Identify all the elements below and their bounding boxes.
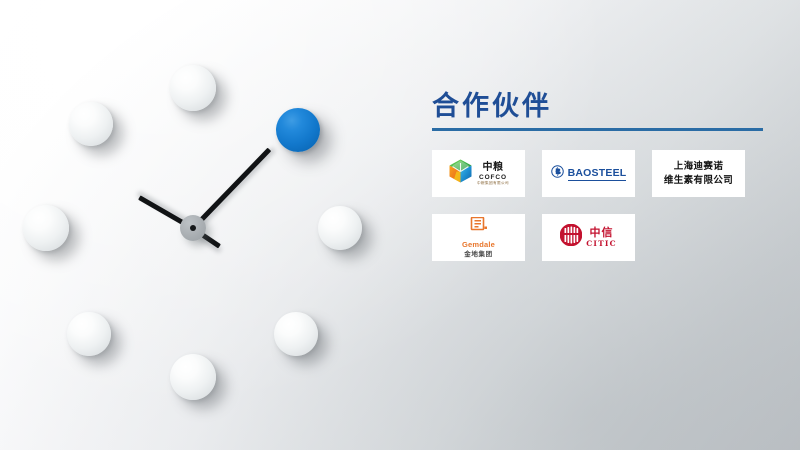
clock-minute-hand [191, 147, 271, 230]
wall-clock-graphic [0, 0, 400, 450]
clock-marker-3 [318, 206, 362, 250]
citic-name-en: CITIC [586, 240, 617, 249]
partner-card-baosteel[interactable]: BAOSTEEL [542, 150, 635, 197]
cofco-name-en: COFCO [479, 174, 507, 182]
disanuo-name-line1: 上海迪赛诺 [664, 160, 733, 174]
partner-card-citic[interactable]: 中信 CITIC [542, 214, 635, 261]
page-title: 合作伙伴 [432, 92, 772, 122]
clock-marker-1 [276, 108, 320, 152]
clock-marker-6 [170, 354, 216, 400]
partner-card-disanuo[interactable]: 上海迪赛诺 维生素有限公司 [652, 150, 745, 197]
title-underline-rule [432, 128, 763, 131]
citic-roundel-icon [560, 224, 582, 251]
partners-panel: 合作伙伴 [432, 92, 772, 261]
clock-marker-10 [69, 102, 113, 146]
clock-marker-4 [274, 312, 318, 356]
clock-marker-7 [67, 312, 111, 356]
partner-logo-grid: 中粮 COFCO 中粮集团有限公司 BAOS [432, 150, 772, 261]
cofco-cube-icon [448, 158, 473, 189]
disanuo-name-line2: 维生素有限公司 [664, 174, 733, 188]
gemdale-name-cn: 金地集团 [464, 251, 492, 259]
clock-marker-12 [170, 65, 216, 111]
gemdale-name-en: Gemdale [462, 241, 495, 250]
partner-card-gemdale[interactable]: Gemdale 金地集团 [432, 214, 525, 261]
cofco-tagline: 中粮集团有限公司 [477, 182, 509, 186]
cofco-name-cn: 中粮 [482, 162, 503, 174]
slide-canvas: 合作伙伴 [0, 0, 800, 450]
baosteel-name-en: BAOSTEEL [568, 167, 627, 181]
partner-card-cofco[interactable]: 中粮 COFCO 中粮集团有限公司 [432, 150, 525, 197]
gemdale-square-icon [470, 217, 488, 239]
clock-center-pin [190, 225, 196, 231]
baosteel-emblem-icon [551, 165, 564, 183]
clock-marker-9 [23, 205, 69, 251]
citic-name-cn: 中信 [589, 227, 613, 240]
